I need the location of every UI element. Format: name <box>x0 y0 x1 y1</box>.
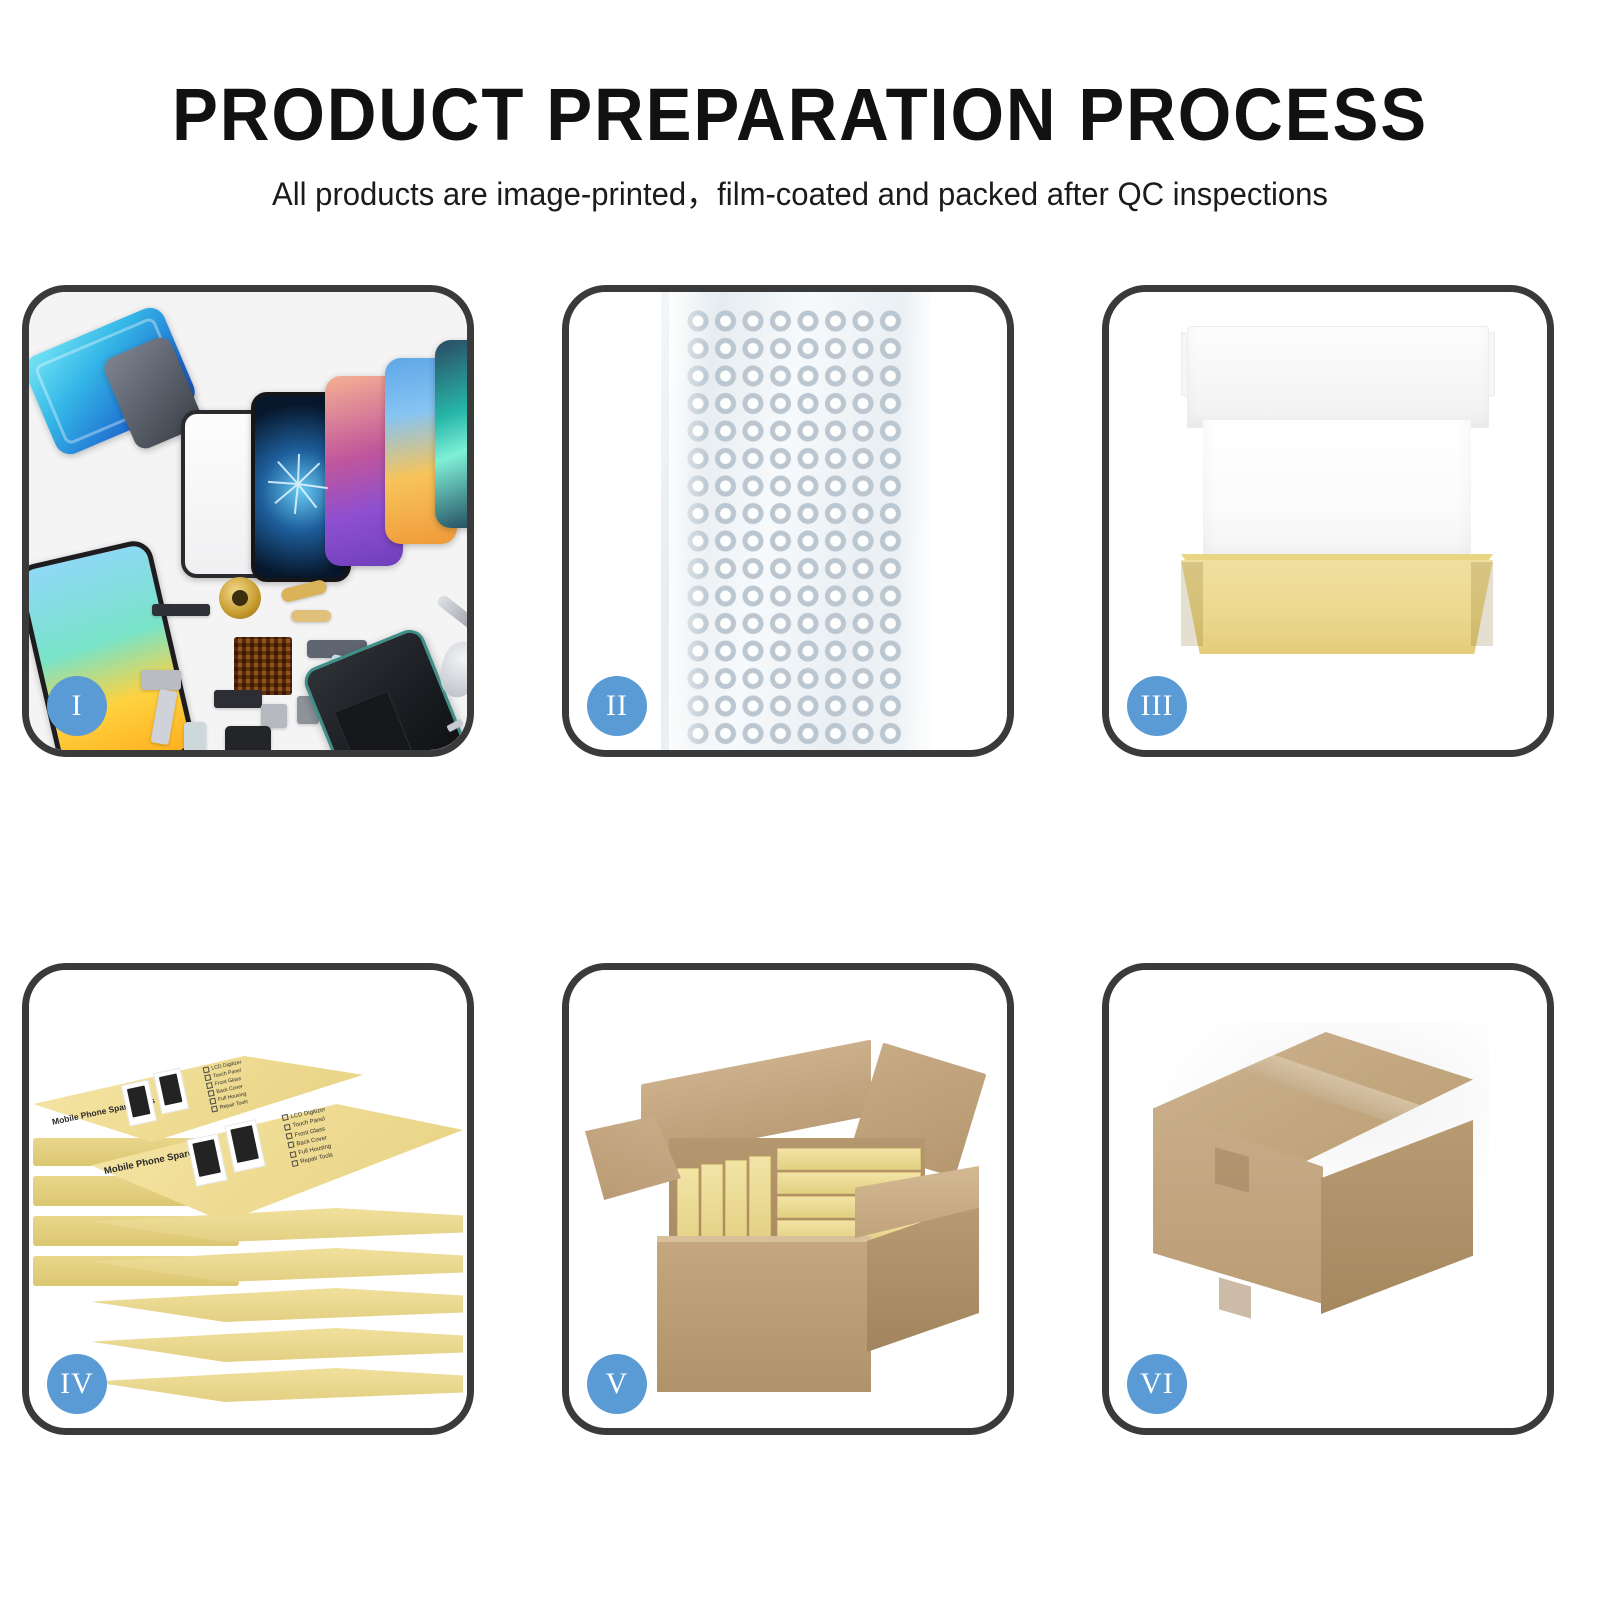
process-row-bottom: Mobile Phone Spare Parts LCD Digitizer T… <box>0 963 1600 1441</box>
process-step-panel-4: Mobile Phone Spare Parts LCD Digitizer T… <box>22 963 474 1435</box>
box-tray-shade-left <box>1181 562 1203 646</box>
step-badge-1: I <box>47 676 107 736</box>
stack-box-right-4 <box>91 1328 463 1362</box>
process-step-panel-2: II <box>562 285 1014 757</box>
camera-module-part <box>225 726 271 750</box>
step-badge-4: IV <box>47 1354 107 1414</box>
taptic-coil-part <box>219 577 261 619</box>
step-badge-2: II <box>587 676 647 736</box>
process-step-panel-3: III <box>1102 285 1554 757</box>
page-title: PRODUCT PREPARATION PROCESS <box>56 78 1544 152</box>
process-step-panel-5: V <box>562 963 1014 1435</box>
infographic-page: PRODUCT PREPARATION PROCESS All products… <box>0 0 1600 1600</box>
screen-crack-overlay <box>267 452 329 514</box>
box-tray-shade-right <box>1471 562 1493 646</box>
bubble-grid <box>687 310 905 750</box>
ic-chip-part <box>234 637 292 695</box>
process-step-panel-6: VI <box>1102 963 1554 1435</box>
inner-gold-box <box>725 1160 747 1246</box>
inner-gold-box <box>777 1148 921 1170</box>
flex-cable-gold-b <box>291 610 331 622</box>
sim-tray-part <box>184 722 206 750</box>
page-subtitle: All products are image-printed，film-coat… <box>24 178 1576 210</box>
phone-display-teal <box>435 340 467 528</box>
wrap-highlight-left <box>669 292 709 750</box>
box-tray-body <box>1181 560 1493 654</box>
tweezers-tool <box>435 593 467 638</box>
inner-gold-box <box>749 1156 771 1242</box>
small-component-a <box>261 704 287 728</box>
box-inner-wall <box>1203 420 1471 568</box>
header: PRODUCT PREPARATION PROCESS All products… <box>0 0 1600 210</box>
process-row-top: I II <box>0 285 1600 763</box>
step-badge-5: V <box>587 1354 647 1414</box>
process-grid: I II <box>0 285 1600 1441</box>
box-lid-open <box>1187 326 1489 428</box>
process-step-panel-1: I <box>22 285 474 757</box>
earpiece-speaker-part <box>152 604 210 616</box>
step-badge-3: III <box>1127 676 1187 736</box>
flex-cable-gold-a <box>280 579 328 604</box>
stack-box-right-3 <box>91 1288 463 1322</box>
carton-front-face <box>657 1242 871 1392</box>
carton-tape-tab-lower <box>1219 1277 1251 1318</box>
wrap-highlight-right <box>899 292 933 750</box>
step-badge-6: VI <box>1127 1354 1187 1414</box>
connector-part-a <box>141 670 181 690</box>
stack-box-right-5 <box>91 1368 463 1402</box>
chip-module-part <box>214 690 262 708</box>
